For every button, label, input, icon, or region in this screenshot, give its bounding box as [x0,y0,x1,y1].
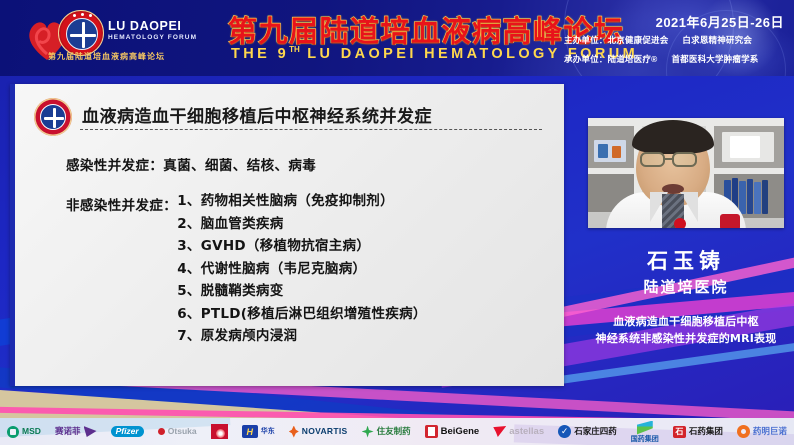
list-item: 3、GVHD（移植物抗宿主病） [177,239,426,255]
book-spine [739,181,746,214]
sponsor-novartis[interactable]: NOVARTIS [282,426,355,438]
sponsor-label: astellas [509,427,544,437]
sponsor-astellas[interactable]: astellas [486,426,551,437]
talk-title-line-1: 血液病造血干细胞移植后中枢 [578,314,794,331]
huadong-logo-icon: H [242,425,258,438]
noninfectious-list: 1、药物相关性脑病（免疫抑制剂） 2、脑血管类疾病 3、GVHD（移植物抗宿主病… [177,194,426,352]
forum-logo: LU DAOPEI HEMATOLOGY FORUM 第九届陆道培血液病高峰论坛 [22,6,174,70]
jwtx-logo-icon [737,425,750,438]
sponsor-label: 药明巨诺 [753,427,787,436]
sponsor-label: 住友制药 [377,427,411,436]
speaker-organization: 陆道培医院 [588,276,784,297]
banner-title-en-prefix: THE 9 [231,46,289,62]
co-organizer-name-1: 陆道培医疗® [608,54,658,64]
list-item: 7、原发病颅内浸润 [177,329,426,345]
shoulder-patch-icon [720,214,740,228]
presentation-slide[interactable]: 血液病造血干细胞移植后中枢神经系统并发症 感染性并发症：真菌、细菌、结核、病毒 … [10,84,564,386]
sjz-logo-icon: ✓ [558,425,571,438]
sponsor-sinopharm[interactable]: 国药集团 [624,421,666,443]
slide-accent-bar [10,84,15,386]
sinopharm-logo-icon [637,421,653,435]
organizer-name-1: 北京健康促进会 [608,35,669,45]
shelf-item [598,144,608,158]
book-spine [762,180,768,214]
sponsor-sanofi[interactable]: 赛诺菲 [48,426,104,437]
sanofi-logo-icon [84,426,97,437]
otsuka-logo-icon [158,428,165,435]
sponsor-hengrui[interactable] [204,424,235,439]
hematology-seal-icon [58,10,104,56]
talk-title-line-2: 神经系统非感染性并发症的MRI表现 [578,331,794,348]
noninfectious-label: 非感染性并发症： [66,194,177,214]
co-organizer-name-2: 首都医科大学肿瘤学系 [671,54,758,64]
sumitomo-logo-icon [362,426,374,438]
conference-header-banner: LU DAOPEI HEMATOLOGY FORUM 第九届陆道培血液病高峰论坛… [0,0,794,76]
sponsor-label: NOVARTIS [302,427,348,436]
astellas-logo-icon [493,426,506,437]
broadcast-screen: LU DAOPEI HEMATOLOGY FORUM 第九届陆道培血液病高峰论坛… [0,0,794,445]
lapel-pin-icon [674,218,686,228]
sponsor-label: Otsuka [168,427,197,436]
cspc-logo-icon: 石 [673,426,686,438]
list-item: 5、脱髓鞘类病变 [177,284,426,300]
sponsor-otsuka[interactable]: Otsuka [151,427,204,436]
sponsor-huadong[interactable]: H 华东 [235,425,282,438]
sponsor-label: 华东 [261,428,275,435]
sponsor-label: 石家庄四药 [574,427,617,436]
hengrui-logo-icon [211,424,228,439]
eyeglasses-bridge [665,158,672,160]
speaker-name: 石玉铸 [588,245,784,275]
pfizer-logo-icon: Pfizer [111,426,144,437]
sponsor-pfizer[interactable]: Pfizer [104,426,151,437]
sponsor-beigene[interactable]: BeiGene [418,425,487,438]
sponsor-label: 石药集团 [689,427,723,436]
eyeglasses-icon [672,152,697,167]
co-organizer-line: 承办单位：陆道培医疗®首都医科大学肿瘤学系 [564,53,786,65]
co-organizer-label: 承办单位： [564,54,608,64]
logo-english-sub: HEMATOLOGY FORUM [108,35,197,42]
book-spine [754,182,761,214]
conference-date: 2021年6月25日-26日 [568,12,784,31]
sponsor-label: BeiGene [441,427,480,437]
sponsor-cspc[interactable]: 石 石药集团 [666,426,730,438]
speaker-video-thumbnail[interactable] [588,118,784,228]
organizer-line: 主办单位：北京健康促进会白求恩精神研究会 [564,34,786,46]
banner-title-en-ordinal: TH [289,45,300,54]
shelf-item [612,146,621,158]
logo-english-name: LU DAOPEI [108,20,181,33]
sponsor-label: 国药集团 [631,436,659,443]
eyeglasses-icon [640,152,665,167]
sponsor-jwtx[interactable]: 药明巨诺 [730,425,794,438]
sponsor-label: 赛诺菲 [55,427,81,436]
slide-seal-icon [34,98,72,136]
infectious-complications-line: 感染性并发症：真菌、细菌、结核、病毒 [66,154,546,174]
novartis-logo-icon [289,426,299,438]
sponsor-sumitomo[interactable]: 住友制药 [355,426,418,438]
list-item: 4、代谢性脑病（韦尼克脑病） [177,262,426,278]
organizer-name-2: 白求恩精神研究会 [682,35,752,45]
slide-title: 血液病造血干细胞移植后中枢神经系统并发症 [82,102,432,127]
sponsor-logo-bar: MSD 赛诺菲 Pfizer Otsuka H 华东 NOVARTIS 住友制药 [0,418,794,445]
book-spine [747,179,753,214]
msd-logo-icon [7,426,19,438]
organizer-label: 主办单位： [564,35,608,45]
list-item: 2、脑血管类疾病 [177,217,426,233]
slide-title-divider [80,129,542,130]
sponsor-label: MSD [22,427,41,436]
slide-body: 感染性并发症：真菌、细菌、结核、病毒 非感染性并发症： 1、药物相关性脑病（免疫… [66,154,546,352]
logo-chinese-name: 第九届陆道培血液病高峰论坛 [48,53,165,61]
noninfectious-complications-block: 非感染性并发症： 1、药物相关性脑病（免疫抑制剂） 2、脑血管类疾病 3、GVH… [66,194,546,352]
talk-title: 血液病造血干细胞移植后中枢 神经系统非感染性并发症的MRI表现 [578,314,794,347]
sponsor-sjzsiyao[interactable]: ✓ 石家庄四药 [551,425,624,438]
sponsor-msd[interactable]: MSD [0,426,48,438]
list-item: 6、PTLD(移植后淋巴组织增殖性疾病） [177,307,426,323]
list-item: 1、药物相关性脑病（免疫抑制剂） [177,194,426,210]
shelf-item [730,136,760,158]
beigene-logo-icon [425,425,438,438]
